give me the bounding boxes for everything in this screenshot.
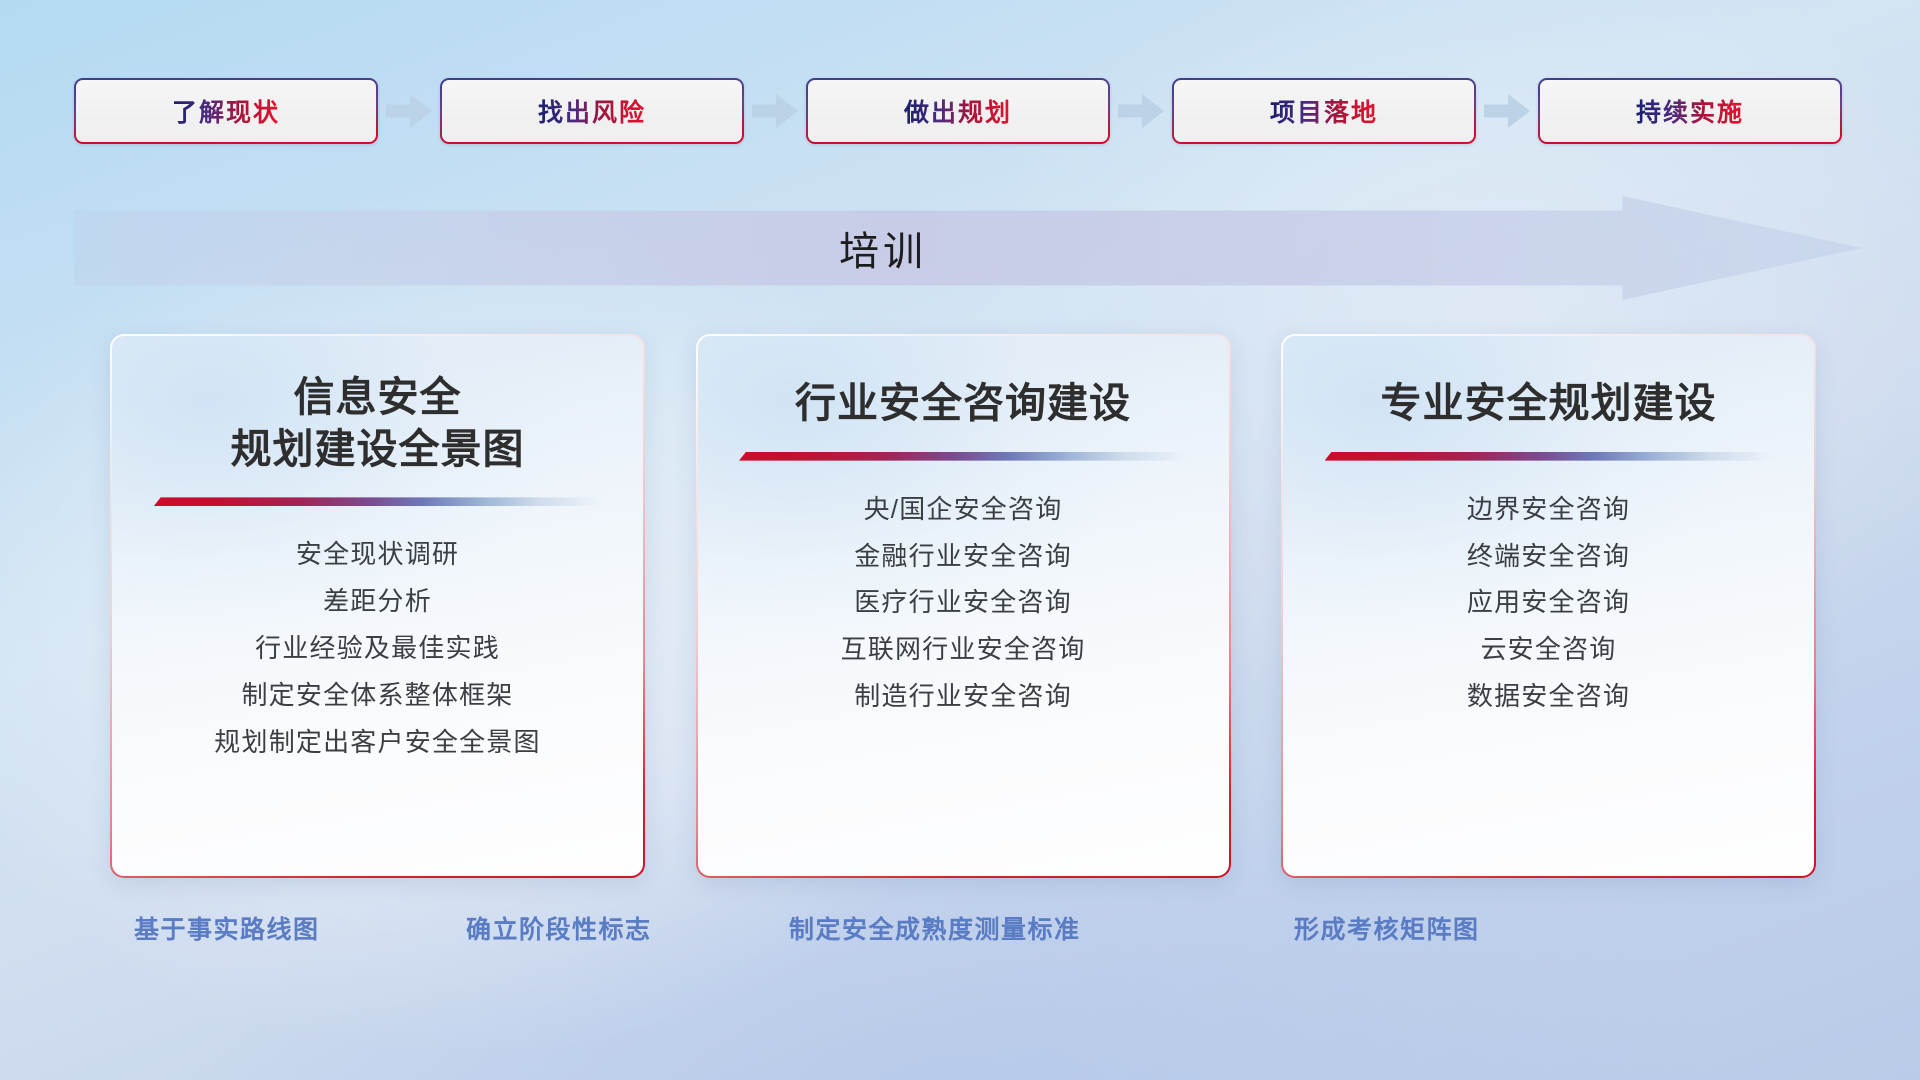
card-title-line1: 专业安全规划建设: [1381, 378, 1717, 430]
banner-title: 培训: [74, 196, 1862, 300]
step-button-find-risk[interactable]: 找出风险: [440, 78, 744, 144]
list-item: 云安全咨询: [1480, 631, 1616, 668]
step-button-face: 找出风险: [442, 80, 742, 142]
list-item: 规划制定出客户安全全景图: [214, 724, 540, 761]
step-wrap-3: 项目落地: [1172, 78, 1476, 144]
step-connector-arrow-3: [1476, 94, 1538, 128]
card-list: 安全现状调研 差距分析 行业经验及最佳实践 制定安全体系整体框架 规划制定出客户…: [112, 536, 643, 761]
list-item: 应用安全咨询: [1467, 584, 1630, 621]
step-wrap-1: 找出风险: [440, 78, 744, 144]
step-label: 持续实施: [1636, 93, 1744, 129]
card-info-security-blueprint[interactable]: 信息安全 规划建设全景图 安全现状调研 差距分析 行业经验及最佳实践 制定安全体…: [110, 334, 645, 878]
list-item: 安全现状调研: [296, 536, 459, 573]
step-wrap-0: 了解现状: [74, 78, 378, 144]
list-item: 央/国企安全咨询: [864, 491, 1063, 528]
list-item: 数据安全咨询: [1467, 678, 1630, 715]
card-title-line1: 信息安全: [231, 372, 525, 424]
footer-label-row: 基于事实路线图 确立阶段性标志 制定安全成熟度测量标准 形成考核矩阵图: [0, 910, 1920, 964]
card-title: 专业安全规划建设: [1363, 378, 1735, 430]
card-divider: [739, 452, 1187, 461]
card-divider: [154, 497, 602, 506]
card-body: 专业安全规划建设 边界安全咨询 终端安全咨询 应用安全咨询 云安全咨询 数据安全…: [1283, 336, 1814, 876]
step-button-face: 做出规划: [808, 80, 1108, 142]
training-banner: 培训: [74, 196, 1862, 300]
footer-label-roadmap: 基于事实路线图: [134, 910, 320, 946]
card-list: 边界安全咨询 终端安全咨询 应用安全咨询 云安全咨询 数据安全咨询: [1283, 491, 1814, 716]
list-item: 差距分析: [323, 583, 432, 620]
step-button-face: 持续实施: [1540, 80, 1840, 142]
step-wrap-4: 持续实施: [1538, 78, 1842, 144]
list-item: 医疗行业安全咨询: [854, 584, 1072, 621]
footer-label-maturity-standard: 制定安全成熟度测量标准: [789, 910, 1081, 946]
right-arrow-icon: [1118, 94, 1164, 128]
step-button-project-landing[interactable]: 项目落地: [1172, 78, 1476, 144]
card-professional-security-planning[interactable]: 专业安全规划建设 边界安全咨询 终端安全咨询 应用安全咨询 云安全咨询 数据安全…: [1281, 334, 1816, 878]
step-wrap-2: 做出规划: [806, 78, 1110, 144]
card-row: 信息安全 规划建设全景图 安全现状调研 差距分析 行业经验及最佳实践 制定安全体…: [110, 334, 1816, 878]
step-button-make-plan[interactable]: 做出规划: [806, 78, 1110, 144]
slide-canvas: 了解现状 找出风险 做出规划: [0, 0, 1920, 1080]
step-label: 找出风险: [538, 93, 646, 129]
step-label: 做出规划: [904, 93, 1012, 129]
step-connector-arrow-1: [744, 94, 806, 128]
footer-label-assessment-matrix: 形成考核矩阵图: [1294, 910, 1480, 946]
step-label: 项目落地: [1270, 93, 1378, 129]
step-button-continuous-implementation[interactable]: 持续实施: [1538, 78, 1842, 144]
card-title-line2: 规划建设全景图: [231, 424, 525, 476]
card-body: 行业安全咨询建设 央/国企安全咨询 金融行业安全咨询 医疗行业安全咨询 互联网行…: [698, 336, 1229, 876]
card-title: 行业安全咨询建设: [777, 378, 1149, 430]
card-title: 信息安全 规划建设全景图: [213, 372, 543, 475]
step-button-understand-status[interactable]: 了解现状: [74, 78, 378, 144]
right-arrow-icon: [386, 94, 432, 128]
list-item: 终端安全咨询: [1467, 538, 1630, 575]
card-body: 信息安全 规划建设全景图 安全现状调研 差距分析 行业经验及最佳实践 制定安全体…: [112, 336, 643, 876]
process-step-row: 了解现状 找出风险 做出规划: [74, 78, 1844, 144]
footer-label-milestones: 确立阶段性标志: [466, 910, 652, 946]
step-label: 了解现状: [172, 93, 280, 129]
list-item: 金融行业安全咨询: [854, 538, 1072, 575]
list-item: 制造行业安全咨询: [854, 678, 1072, 715]
list-item: 互联网行业安全咨询: [841, 631, 1086, 668]
list-item: 边界安全咨询: [1467, 491, 1630, 528]
step-button-face: 了解现状: [76, 80, 376, 142]
card-divider: [1325, 452, 1773, 461]
list-item: 行业经验及最佳实践: [255, 630, 500, 667]
card-industry-security-consulting[interactable]: 行业安全咨询建设 央/国企安全咨询 金融行业安全咨询 医疗行业安全咨询 互联网行…: [696, 334, 1231, 878]
step-connector-arrow-0: [378, 94, 440, 128]
card-title-line1: 行业安全咨询建设: [795, 378, 1131, 430]
list-item: 制定安全体系整体框架: [241, 677, 513, 714]
right-arrow-icon: [752, 94, 798, 128]
right-arrow-icon: [1484, 94, 1530, 128]
step-button-face: 项目落地: [1174, 80, 1474, 142]
card-list: 央/国企安全咨询 金融行业安全咨询 医疗行业安全咨询 互联网行业安全咨询 制造行…: [698, 491, 1229, 716]
step-connector-arrow-2: [1110, 94, 1172, 128]
